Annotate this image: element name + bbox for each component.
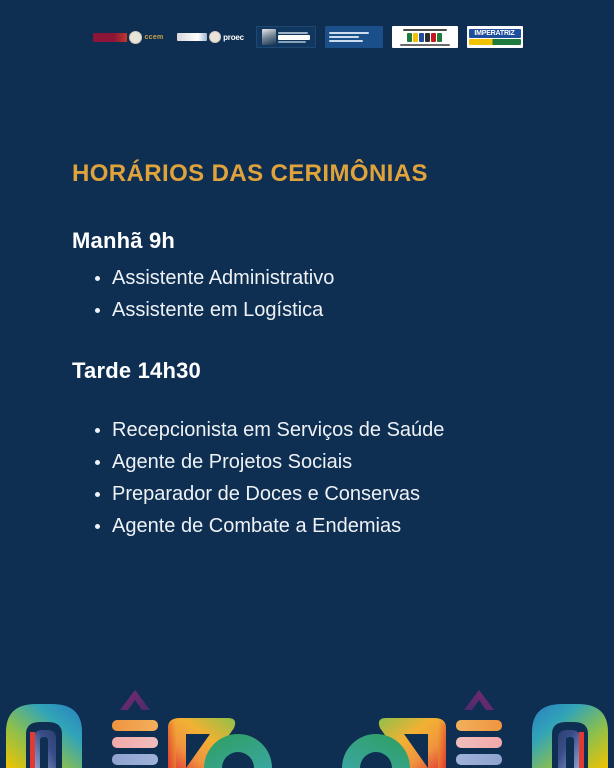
campus-manuel-queiroz-logo [256,26,316,48]
ifma-wordmark-icon [93,33,127,42]
list-item: Assistente Administrativo [72,262,592,294]
text-line [278,35,310,40]
institutional-seal-icon [129,31,142,44]
ifma-ccem-logo: ccem [92,26,166,48]
text-line [278,41,306,43]
text-line [329,40,363,42]
list-item: Agente de Combate a Endemias [72,510,592,542]
list-item: Preparador de Doces e Conservas [72,478,592,510]
prefeitura-imperatriz-logo: IMPERATRIZ [467,26,523,48]
proec-label: proec [223,33,244,42]
imperatriz-label: IMPERATRIZ [469,29,521,38]
ccem-label: ccem [144,34,163,41]
list-item: Agente de Projetos Sociais [72,446,592,478]
list-item: Assistente em Logística [72,294,592,326]
decorative-pattern [0,676,614,768]
session-heading-morning: Manhã 9h [72,228,592,254]
text-line [329,32,369,34]
page-title: HORÁRIOS DAS CERIMÔNIAS [72,160,428,188]
ifma-proec-logo: proec [175,26,247,48]
text-line [400,44,450,46]
brasil-wordmark-icon [407,33,442,42]
list-item: Recepcionista em Serviços de Saúde [72,414,592,446]
session-list-morning: Assistente Administrativo Assistente em … [72,262,592,326]
text-line [278,32,308,34]
session-list-afternoon: Recepcionista em Serviços de Saúde Agent… [72,414,592,542]
text-line [403,29,447,31]
portrait-icon [262,29,276,45]
session-afternoon: Tarde 14h30 Recepcionista em Serviços de… [72,358,592,542]
ministerio-educacao-logo [325,26,383,48]
logo-strip: ccem proec IMPERATRIZ [0,24,614,50]
campus-wordmark [278,32,310,43]
text-line [329,36,359,38]
imperatriz-colorbar-icon [469,39,521,45]
session-morning: Manhã 9h Assistente Administrativo Assis… [72,228,592,326]
governo-do-brasil-logo [392,26,458,48]
ifma-wordmark-icon [177,33,207,41]
session-heading-afternoon: Tarde 14h30 [72,358,592,384]
institutional-seal-icon [209,31,221,43]
